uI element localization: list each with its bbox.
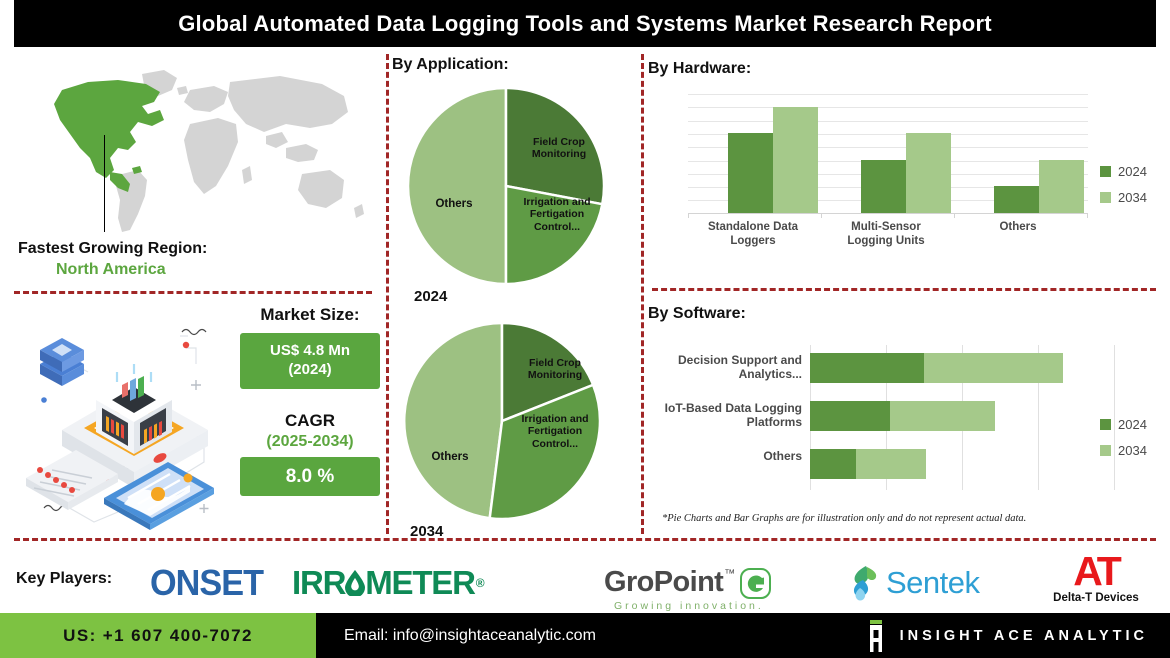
pie-2034-slice-label-irrigation: Irrigation and Fertigation Control... [518,413,592,450]
hardware-chart-legend: 2024 2034 [1100,164,1147,216]
bar-multisensor-2034 [906,133,951,213]
legend-swatch-2034 [1100,192,1111,203]
bar-others-2034 [1039,160,1084,213]
by-application-panel: By Application: Field Crop Monitoring Ir… [392,56,636,540]
legend-label-2034: 2034 [1118,190,1147,205]
by-application-heading: By Application: [392,56,636,74]
segment-decision-support-2034 [924,353,1063,383]
x-axis [688,213,1088,214]
pie-chart-2024: Field Crop Monitoring Irrigation and Fer… [392,86,636,305]
logo-gropoint-tm: ™ [724,568,735,580]
pie-2024-slice-label-others: Others [422,198,486,212]
market-stats: Market Size: US$ 4.8 Mn (2024) CAGR (202… [240,305,380,496]
software-category-decision-support: Decision Support and Analytics... [660,353,810,382]
divider-vertical-left [386,54,389,534]
axis-tick [688,214,689,218]
logo-gropoint-tagline: Growing innovation. [614,600,764,612]
cagr-label: CAGR [240,411,380,431]
fastest-growing-region: Fastest Growing Region: North America [18,240,358,279]
pie-2034-slice-label-others: Others [418,451,482,465]
pie-chart-2034: Field Crop Monitoring Irrigation and Fer… [392,321,636,540]
software-chart-legend: 2024 2034 [1100,417,1147,469]
cagr-value-box: 8.0 % [240,457,380,497]
logo-irrometer-registered: ® [476,576,484,590]
infographic-page: Global Automated Data Logging Tools and … [0,0,1170,658]
logo-delta-t-devices[interactable]: AT Delta-T Devices [1040,552,1152,604]
legend-entry-2034: 2034 [1100,443,1147,458]
divider-horizontal-left [14,291,372,294]
world-map [14,62,370,247]
divider-horizontal-right [652,288,1156,291]
footer-phone-block: US: +1 607 400-7072 [0,613,316,658]
legend-entry-2024: 2024 [1100,164,1147,179]
software-category-others: Others [660,449,810,463]
footer-brand-name: INSIGHT ACE ANALYTIC [900,628,1148,644]
legend-swatch-2024 [1100,166,1111,177]
market-size-box: US$ 4.8 Mn (2024) [240,333,380,389]
logo-irrometer[interactable]: IRR METER ® [292,564,483,602]
pie-2034-year: 2034 [410,523,636,540]
key-players-label: Key Players: [16,570,112,588]
software-row-decision-support: Decision Support and Analytics... [810,353,1140,383]
footer-bar: US: +1 607 400-7072 Email: info@insighta… [0,613,1170,658]
divider-vertical-right [641,54,644,534]
north-america-highlight [54,80,164,192]
segment-others-2024 [810,449,856,479]
by-hardware-heading: By Hardware: [648,60,1164,78]
market-size-year: (2024) [244,361,376,380]
by-software-panel: By Software: Decision Support and Analyt… [648,305,1164,490]
cagr-years: (2025-2034) [240,433,380,451]
segment-decision-support-2024 [810,353,924,383]
bar-others-2024 [994,186,1039,213]
segment-iot-platforms-2024 [810,401,890,431]
logo-sentek[interactable]: Sentek [846,564,980,602]
gridline [688,94,1088,95]
software-row-iot-platforms: IoT-Based Data Logging Platforms [810,401,1140,431]
by-hardware-panel: By Hardware: Standalone D [648,60,1164,214]
legend-entry-2024: 2024 [1100,417,1147,432]
footer-email[interactable]: Email: info@insightaceanalytic.com [344,627,596,645]
water-drop-icon [344,569,366,596]
legend-entry-2034: 2034 [1100,190,1147,205]
gropoint-g-badge-icon [740,568,771,599]
fastest-growing-region-value: North America [56,261,358,279]
segment-iot-platforms-2034 [890,401,995,431]
footer-brand: INSIGHT ACE ANALYTIC [866,613,1148,658]
hardware-category-others: Others [978,220,1058,234]
legend-swatch-2034 [1100,445,1111,456]
fastest-growing-region-label: Fastest Growing Region: [18,240,358,258]
logo-irrometer-part1: IRR [292,564,345,602]
bar-multisensor-2024 [861,160,906,213]
insight-ace-a-logo-icon [866,620,886,652]
legend-label-2024: 2024 [1118,164,1147,179]
pie-2024-year: 2024 [414,288,636,305]
market-size-label: Market Size: [240,305,380,325]
software-bar-chart: Decision Support and Analytics... IoT-Ba… [810,345,1140,490]
footer-phone[interactable]: US: +1 607 400-7072 [63,626,253,646]
legend-label-2024: 2024 [1118,417,1147,432]
market-size-value: US$ 4.8 Mn [244,342,376,361]
sentek-leaf-icon [846,564,880,602]
report-title-bar: Global Automated Data Logging Tools and … [14,0,1156,47]
logo-irrometer-part2: METER [365,564,475,602]
logo-delta-t-subtitle: Delta-T Devices [1040,592,1152,604]
legend-swatch-2024 [1100,419,1111,430]
segment-others-2034 [856,449,926,479]
charts-footnote: *Pie Charts and Bar Graphs are for illus… [662,513,1026,524]
legend-label-2034: 2034 [1118,443,1147,458]
axis-tick [954,214,955,218]
pie-2024-slice-label-irrigation: Irrigation and Fertigation Control... [520,196,594,233]
key-players-row: Key Players: ONSET IRR METER ® GroPoint … [0,552,1170,610]
software-row-others: Others [810,449,1140,479]
logo-sentek-text: Sentek [886,565,980,601]
gridline [688,121,1088,122]
axis-tick [821,214,822,218]
logo-gropoint-text: GroPoint [604,566,723,599]
footer-email-block: Email: info@insightaceanalytic.com INSIG… [316,613,1170,658]
hardware-category-multisensor: Multi-Sensor Logging Units [831,220,941,249]
by-software-heading: By Software: [648,305,1164,323]
bar-standalone-2024 [728,133,773,213]
bar-standalone-2034 [773,107,818,213]
software-category-iot-platforms: IoT-Based Data Logging Platforms [660,401,810,430]
data-logging-illustration [18,312,248,530]
axis-tick [1087,214,1088,218]
logo-gropoint[interactable]: GroPoint ™ [604,566,771,599]
logo-onset[interactable]: ONSET [150,562,263,604]
gridline [688,107,1088,108]
hardware-category-standalone: Standalone Data Loggers [698,220,808,249]
page-title: Global Automated Data Logging Tools and … [178,11,991,37]
logo-delta-t-at: AT [1040,552,1152,591]
pie-2034-slice-label-field-crop: Field Crop Monitoring [516,357,594,382]
pie-2024-slice-label-field-crop: Field Crop Monitoring [520,136,598,161]
map-leader-line [104,135,105,232]
hardware-bar-chart: Standalone Data Loggers Multi-Sensor Log… [688,94,1088,214]
